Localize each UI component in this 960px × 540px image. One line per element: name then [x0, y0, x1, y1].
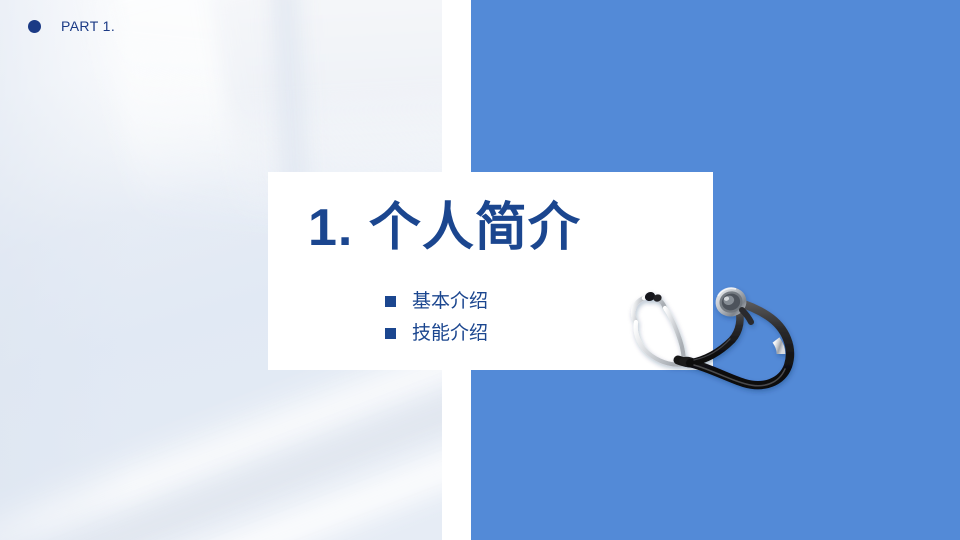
- section-header-label: PART 1.: [61, 19, 115, 33]
- slide-canvas: 1. 个人简介 基本介绍 技能介绍: [0, 0, 960, 540]
- filled-square-icon: [385, 296, 396, 307]
- list-item[interactable]: 基本介绍: [385, 285, 488, 317]
- topic-list: 基本介绍 技能介绍: [385, 285, 488, 349]
- section-header: PART 1.: [28, 19, 115, 33]
- list-item-label: 技能介绍: [412, 324, 488, 343]
- list-item[interactable]: 技能介绍: [385, 317, 488, 349]
- list-item-label: 基本介绍: [412, 292, 488, 311]
- page-title: 1. 个人简介: [308, 202, 581, 254]
- filled-square-icon: [385, 328, 396, 339]
- content-card: 1. 个人简介 基本介绍 技能介绍: [268, 172, 713, 370]
- filled-circle-icon: [28, 20, 41, 33]
